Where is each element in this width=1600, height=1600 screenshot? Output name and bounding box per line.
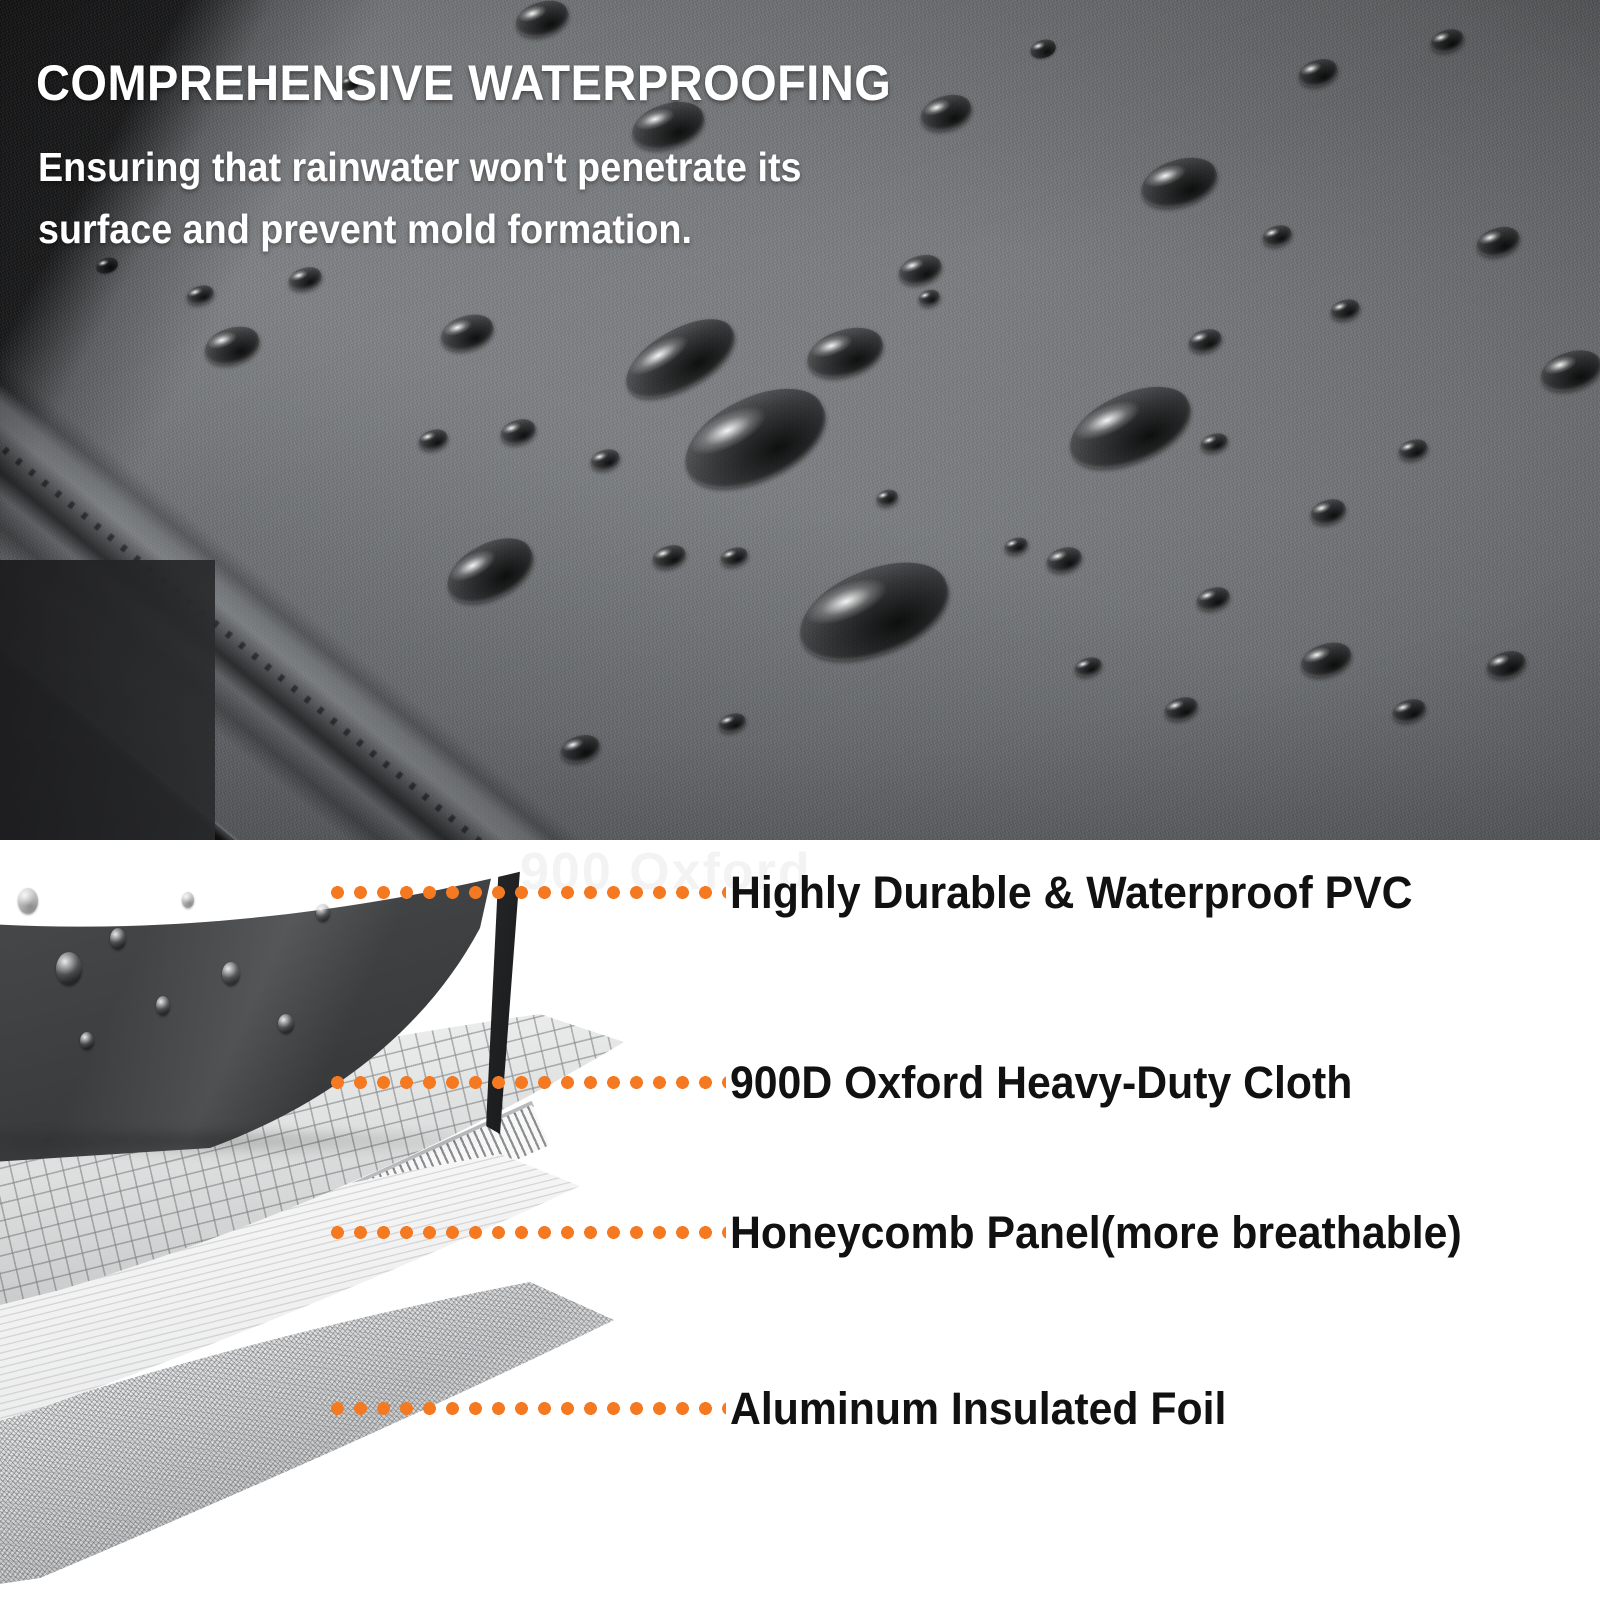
leader-dots	[326, 1226, 726, 1239]
layer-label: Highly Durable & Waterproof PVC	[730, 870, 1412, 915]
water-droplet	[278, 1014, 294, 1034]
leader-dots	[326, 1402, 726, 1415]
water-droplet	[56, 952, 82, 986]
layer-callout-row: Highly Durable & Waterproof PVC	[0, 862, 1600, 922]
water-droplet	[80, 1032, 94, 1050]
subtitle-line-1: Ensuring that rainwater won't penetrate …	[38, 136, 801, 198]
layer-label: Aluminum Insulated Foil	[730, 1386, 1226, 1431]
water-droplet	[110, 928, 126, 950]
page-subtitle: Ensuring that rainwater won't penetrate …	[38, 136, 801, 260]
material-layers-diagram: 900 Oxford	[0, 840, 1600, 1600]
leader-dots	[326, 1076, 726, 1089]
leader-dots	[326, 886, 726, 899]
water-droplet	[222, 962, 240, 986]
water-droplet	[156, 996, 170, 1016]
layer-callout-row: Aluminum Insulated Foil	[0, 1378, 1600, 1438]
layer-callout-row: Honeycomb Panel(more breathable)	[0, 1202, 1600, 1262]
pvc-drop-shadow	[0, 1132, 510, 1158]
layer-label: Honeycomb Panel(more breathable)	[730, 1210, 1462, 1255]
page-title: COMPREHENSIVE WATERPROOFING	[36, 56, 1352, 110]
layer-callout-row: 900D Oxford Heavy-Duty Cloth	[0, 1052, 1600, 1112]
product-infographic: COMPREHENSIVE WATERPROOFING Ensuring tha…	[0, 0, 1600, 1600]
layer-label: 900D Oxford Heavy-Duty Cloth	[730, 1060, 1352, 1105]
subtitle-line-2: surface and prevent mold formation.	[38, 198, 801, 260]
waterproofing-photo: COMPREHENSIVE WATERPROOFING Ensuring tha…	[0, 0, 1600, 840]
